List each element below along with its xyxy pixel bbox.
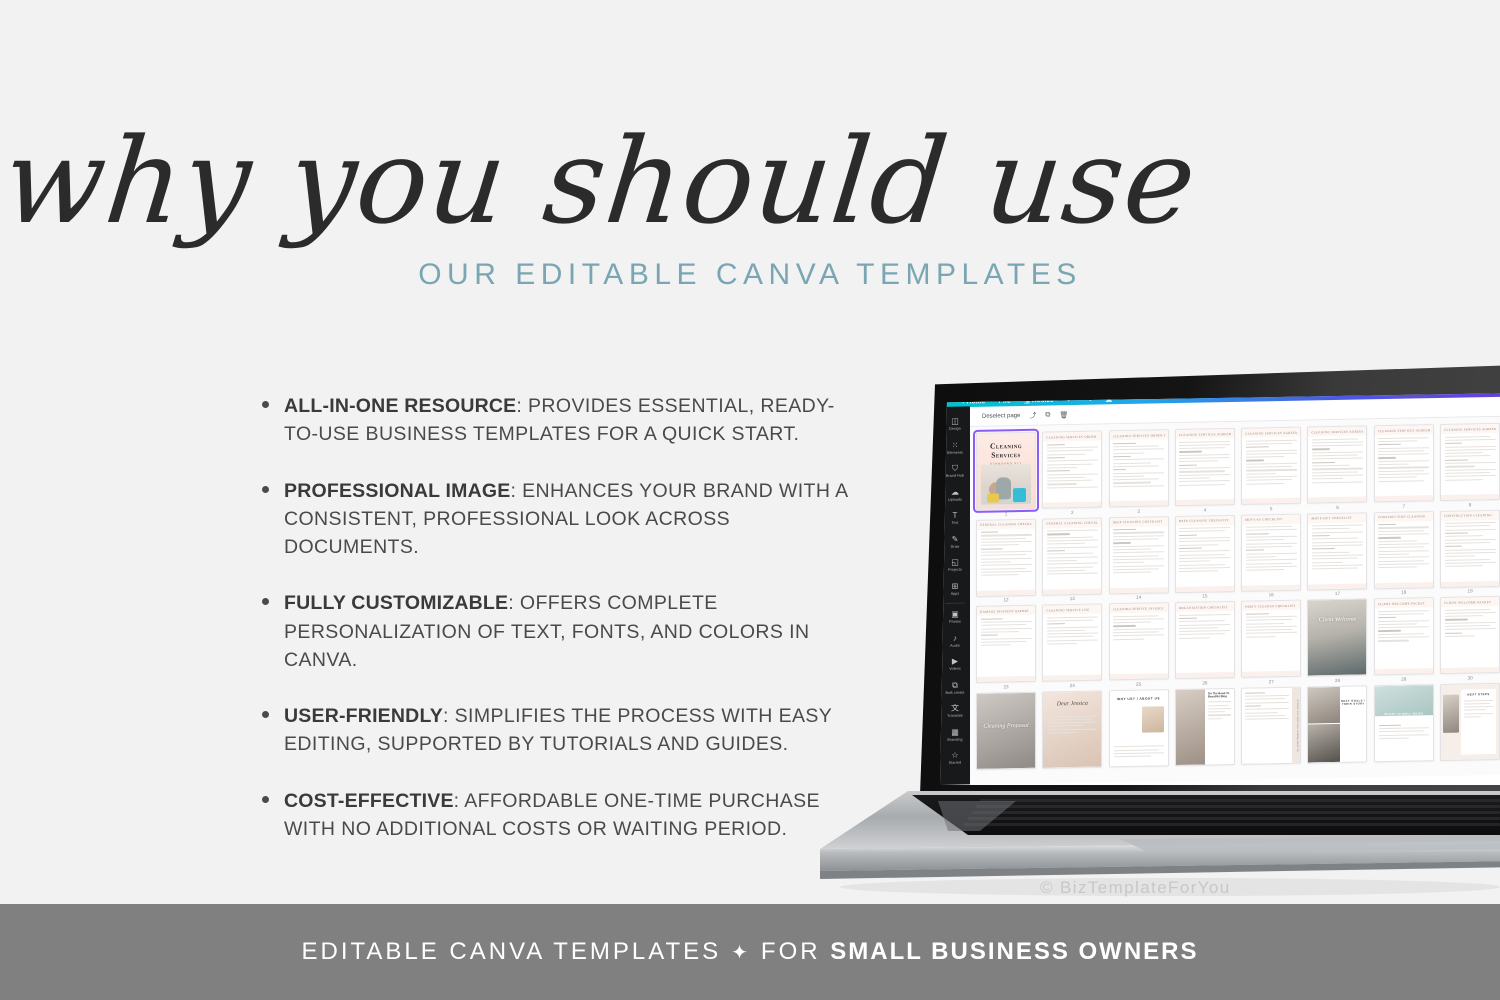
page-number: 14 [1136,595,1141,601]
blog-text: On The Road To Beautiful Blog [1205,688,1234,764]
page-cell[interactable]: Cleaning Services Agreement 4 [1175,428,1235,514]
page-thumbnail[interactable]: Construction Cleaning [1374,511,1434,589]
doc-body [1242,610,1300,643]
cover-title-line1: Cleaning [977,433,1035,452]
bullet-dot-icon [262,598,269,605]
photos-icon: ▣ [951,611,959,619]
doc-footer [1441,494,1499,500]
sidebar-item-photos[interactable]: ▣ Photos [940,605,970,629]
brand-hub-icon: ⛉ [952,465,958,473]
page-thumbnail-selected[interactable]: Cleaning Services Standard Kit [976,432,1036,510]
next-steps-card: Next Steps [1461,688,1496,754]
page-thumbnail[interactable]: Cleaning Services Agreement [1175,428,1235,506]
doc-body [1242,437,1300,489]
page-thumbnail[interactable]: Cleaning Services Agreement [1374,424,1434,502]
doc-footer [1375,495,1433,501]
doc-title: Party Cleanup Checklist [1245,603,1295,608]
doc-body [1441,606,1499,642]
proposal-title: Cleaning Proposal [977,722,1035,729]
page-cell[interactable]: Cleaning Services Agreement 8 [1440,423,1500,509]
page-thumbnail[interactable]: General Cleaning Checklist [1042,517,1102,595]
doc-footer [1043,588,1101,594]
bullet-dot-icon [262,401,269,408]
doc-body [1375,434,1433,486]
page-thumbnail[interactable]: Cleaning Services Order Form [1109,429,1169,507]
doc-body [977,615,1035,651]
doc-footer [1110,587,1168,593]
page-thumbnail-grid[interactable]: Cleaning Services Standard Kit 1 [970,416,1500,785]
list-item-term: COST-EFFECTIVE [284,790,454,812]
page-thumbnail[interactable]: Next Steps [1440,682,1500,760]
page-cell[interactable]: Cleaning Service Invoice 25 [1109,602,1169,688]
doc-footer [977,676,1035,682]
page-number: 13 [1070,596,1075,602]
page-number: 2 [1071,510,1074,516]
doc-body [1110,612,1168,645]
page-number: 30 [1468,675,1473,681]
cover-photo [981,464,1031,505]
page-cell[interactable]: Next Goals / Their Story [1307,685,1367,765]
starred-icon: ☆ [951,752,958,760]
doc-title: General Cleaning Checklist [1046,521,1098,526]
why-us-page: Why Us? / About Us [1110,690,1168,766]
translate-icon: 文 [951,705,959,713]
sidebar-item-apps[interactable]: ⊞ Apps [940,577,970,601]
next-steps-page: Next Steps [1441,683,1499,759]
footer-text: Editable Canva Templates✦For Small Busin… [301,938,1198,966]
text-icon: T [953,512,958,520]
page-number: 19 [1468,588,1473,594]
doc-body [1043,527,1101,579]
doc-body [1441,519,1499,571]
sidebar-item-label: Elements [947,450,963,454]
delete-icon[interactable]: 🗑 [1059,411,1068,419]
page-cell[interactable]: Why Us? / About Us [1109,689,1169,769]
page-number: 27 [1269,679,1274,685]
page-thumbnail[interactable]: Construction Cleaning [1440,509,1500,587]
bullet-dot-icon [262,796,269,803]
uploads-icon: ☁ [951,488,959,496]
vertical-tagline: A Place You Will Love Coming Back To [1296,699,1299,751]
doc-title: Cleaning Services Agreement [1311,429,1363,434]
doc-footer [1242,671,1300,677]
next-steps-photo [1443,694,1459,732]
diamond-icon: ✦ [731,942,751,964]
letter-page: Dear Jessica [1043,691,1101,767]
doc-body [1242,523,1300,575]
benefits-list: ALL-IN-ONE RESOURCE: PROVIDES ESSENTIAL,… [258,392,858,843]
page-cell[interactable]: Dear Jessica [1042,690,1102,770]
doc-title: Construction Cleaning [1444,513,1492,518]
sidebar-item-starred[interactable]: ☆ Starred [940,746,970,770]
next-goals-page: Next Goals / Their Story [1308,686,1366,762]
sidebar-item-label: Branding [947,737,962,741]
doc-footer [1043,501,1101,507]
page-subtitle: Our Editable Canva Templates [300,258,1200,292]
page-cell[interactable]: Organization Checklist 26 [1175,601,1235,687]
doc-title: Deep Cleaning Checklist [1179,518,1229,523]
page-thumbnail[interactable]: Cleaning Service Log [1042,603,1102,681]
list-item: COST-EFFECTIVE: AFFORDABLE ONE-TIME PURC… [258,787,858,844]
doc-title: Cleaning Service Invoice [1113,606,1164,611]
page-number: 8 [1469,502,1472,508]
doc-footer [1043,674,1101,680]
page-thumbnail[interactable]: Cleaning Services Agreement [1307,425,1367,503]
headline-block: why you should use Our Editable Canva Te… [0,120,1200,292]
page-number: 23 [1003,684,1008,690]
page-thumbnail[interactable]: Move-In Checklist [1241,513,1301,591]
next-goals-heading: Next Goals / Their Story [1341,699,1366,705]
doc-footer [1441,580,1499,586]
doc-title: Deep Cleaning Checklist [1113,519,1163,524]
doc-title: Cleaning Services Agreement [1179,431,1231,436]
bucket-shape [1013,488,1026,502]
sidebar-item-videos[interactable]: ▶ Videos [940,652,970,676]
doc-footer [1308,583,1366,589]
page-number: 7 [1403,503,1406,509]
wellbeing-page: Invest In Well-Being [1375,685,1433,761]
doc-title: Client Welcome Packet [1444,599,1491,604]
page-cell[interactable]: Cleaning Service Log 24 [1042,603,1102,689]
page-number: 28 [1335,677,1340,683]
doc-footer [1375,668,1433,674]
list-item: USER-FRIENDLY: SIMPLIFIES THE PROCESS WI… [258,702,858,759]
doc-footer [1242,584,1300,590]
doc-footer [1176,585,1234,591]
sidebar-item-label: Text [952,521,959,525]
page-cell[interactable]: Deep Cleaning Checklist 15 [1175,514,1235,600]
sidebar-item-label: Draw [951,544,960,548]
page-cell[interactable]: Client Welcome 28 [1307,598,1367,684]
page-cell[interactable]: General Cleaning Checklist 12 [976,518,1036,604]
page-thumbnail[interactable]: Party Cleanup Checklist [1241,600,1301,678]
doc-title: Cleaning Services Order Form [1046,434,1098,439]
page-thumbnail[interactable]: Next Goals / Their Story [1307,685,1367,763]
sidebar-item-label: Audio [950,643,960,647]
sidebar-item-label: Starred [949,761,962,765]
cover-title-line2: Services [977,450,1035,460]
page-number: 5 [1270,506,1273,512]
page-cell[interactable]: Damage Incident Report 23 [976,605,1036,691]
page-cell[interactable]: Construction Cleaning 19 [1440,509,1500,595]
person-photo [1308,724,1340,762]
doc-footer [1308,496,1366,502]
letter-body [1048,715,1096,736]
footer-lead: Editable Canva Templates [301,938,721,965]
sidebar-item-label: Photos [949,620,961,624]
page-number: 24 [1070,682,1075,688]
page-number: 17 [1335,591,1340,597]
doc-footer [1441,667,1499,673]
wellbeing-heading: Invest In Well-Being [1375,712,1433,716]
doc-title: General Cleaning Checklist [980,522,1032,527]
duplicate-icon[interactable]: ⧉ [1045,411,1050,419]
doc-title: Client Welcome Packet [1378,601,1425,606]
page-cell[interactable]: Cleaning Services Standard Kit 1 [976,432,1036,518]
doc-footer [1110,673,1168,679]
sidebar-item-label: Uploads [948,497,962,501]
sidebar-item-label: Apps [951,591,960,595]
grid-row: General Cleaning Checklist 12 [976,509,1500,604]
sidebar-item-branding[interactable]: ▦ Branding [940,723,970,747]
list-item: FULLY CUSTOMIZABLE: OFFERS COMPLETE PERS… [258,589,858,674]
wellbeing-body [1379,724,1429,742]
doc-body [1176,524,1234,576]
sidebar-item-bulk-create[interactable]: ⧉ Bulk create [940,676,970,700]
poster-canvas: why you should use Our Editable Canva Te… [0,0,1500,1000]
bullet-dot-icon [262,711,269,718]
share-icon[interactable]: ⤴ [1029,410,1036,420]
page-thumbnail[interactable]: Cleaning Services Agreement [1440,423,1500,501]
page-thumbnail-welcome[interactable]: Client Welcome [1307,598,1367,676]
page-cell[interactable]: Construction Cleaning 18 [1374,511,1434,597]
page-thumbnail[interactable]: A Place You Will Love Coming Back To [1241,686,1301,764]
doc-footer [1242,498,1300,504]
doc-body [1043,440,1101,493]
doc-body [1176,611,1234,644]
page-number: 29 [1401,676,1406,682]
page-cell[interactable]: Cleaning Services Order Form 2 [1042,430,1102,516]
design-icon: ◫ [951,418,959,426]
doc-title: Damage Incident Report [980,608,1029,613]
doc-body [1375,521,1433,573]
grid-row: Cleaning Proposal Dear Jessica [976,682,1500,771]
watermark: © BizTemplateForYou [1040,878,1231,898]
sidebar-item-label: Projects [948,568,962,572]
doc-body [1043,613,1101,649]
page-number: 4 [1204,507,1207,513]
page-cell[interactable]: Cleaning Services Agreement 5 [1241,427,1301,513]
sidebar-item-label: Bulk create [945,690,964,694]
videos-icon: ▶ [952,658,958,666]
page-cell[interactable]: Client Welcome Packet 29 [1374,597,1434,683]
doc-title: Cleaning Services Agreement [1444,426,1496,431]
grid-row: Damage Incident Report 23 [976,596,1500,691]
draw-icon: ✎ [952,535,959,543]
page-thumbnail[interactable]: Move-Out Checklist [1307,512,1367,590]
page-thumbnail[interactable]: Cleaning Services Order Form [1042,430,1102,508]
footer-mid: For [761,938,821,965]
blog-photo [1176,689,1205,765]
page-cell[interactable]: Next Steps [1440,682,1500,762]
page-thumbnail[interactable]: Client Welcome Packet [1374,597,1434,675]
sidebar-item-label: Design [949,427,961,431]
doc-title: Organization Checklist [1179,605,1228,610]
page-thumbnail[interactable]: Why Us? / About Us [1109,689,1169,767]
list-item: PROFESSIONAL IMAGE: ENHANCES YOUR BRAND … [258,477,858,562]
page-thumbnail[interactable]: Deep Cleaning Checklist [1109,516,1169,594]
doc-footer [1375,582,1433,588]
welcome-script-label: Client Welcome [1308,616,1366,623]
doc-title: Cleaning Service Log [1046,607,1089,612]
audio-icon: ♪ [953,634,957,642]
doc-body [1110,439,1168,492]
blog-page: On The Road To Beautiful Blog [1176,688,1234,764]
laptop-mockup: ‹ Home File ⇲ Resize ↶ ↷ ☁ [820,365,1500,870]
page-number: 6 [1336,504,1339,510]
page-cell[interactable]: Move-Out Checklist 17 [1307,512,1367,598]
doc-title: Move-In Checklist [1245,517,1282,522]
apps-icon: ⊞ [952,582,959,590]
doc-title: Cleaning Services Agreement [1245,430,1297,435]
proposal-photo: Cleaning Proposal [977,692,1035,768]
page-cell[interactable]: Invest In Well-Being [1374,684,1434,764]
deselect-page-button[interactable]: Deselect page [982,413,1020,420]
elements-icon: ⁙ [952,441,959,449]
footer-strong: Small Business Owners [830,938,1198,965]
doc-footer [1176,499,1234,505]
page-cell[interactable]: Cleaning Services Agreement 7 [1374,424,1434,510]
page-number: 25 [1136,681,1141,687]
doc-title: Move-Out Checklist [1311,516,1352,521]
page-cell[interactable]: Client Welcome Packet 30 [1440,596,1500,682]
doc-body [1441,433,1499,485]
doc-body [1308,522,1366,574]
why-us-photo [1142,706,1164,732]
sidebar-item-projects[interactable]: ◱ Projects [940,553,970,577]
grid-row: Cleaning Services Standard Kit 1 [976,423,1500,518]
page-cell[interactable]: Move-In Checklist 16 [1241,513,1301,599]
page-number: 18 [1401,590,1406,596]
list-item-term: FULLY CUSTOMIZABLE [284,592,508,614]
kitchen-photo [1308,686,1340,723]
blog-heading: On The Road To Beautiful Blog [1208,691,1231,698]
sidebar-item-audio[interactable]: ♪ Audio [940,629,970,653]
page-cell[interactable]: On The Road To Beautiful Blog [1175,687,1235,767]
sidebar-item-label: Translate [947,714,963,718]
projects-icon: ◱ [951,559,959,567]
page-thumbnail[interactable]: Client Welcome Packet [1440,596,1500,674]
sidebar-item-label: Brand Hub [946,474,964,478]
page-cell[interactable]: A Place You Will Love Coming Back To [1241,686,1301,766]
branding-icon: ▦ [951,728,959,736]
sidebar-divider [945,603,965,604]
page-thumbnail[interactable]: Invest In Well-Being [1374,684,1434,762]
page-number: 16 [1269,592,1274,598]
welcome-photo: Client Welcome [1308,599,1366,675]
page-cell[interactable]: Cleaning Proposal [976,691,1036,771]
cover-page: Cleaning Services Standard Kit [977,433,1035,509]
doc-footer [1176,672,1234,678]
doc-body [977,528,1035,580]
list-item-term: ALL-IN-ONE RESOURCE [284,395,516,417]
page-cell[interactable]: Cleaning Services Order Form 3 [1109,429,1169,515]
list-item: ALL-IN-ONE RESOURCE: PROVIDES ESSENTIAL,… [258,392,858,449]
doc-body [1375,607,1433,646]
page-thumbnail[interactable]: Deep Cleaning Checklist [1175,514,1235,592]
coming-back-page: A Place You Will Love Coming Back To [1242,687,1300,763]
page-title: why you should use [0,120,1207,244]
page-thumbnail[interactable]: On The Road To Beautiful Blog [1175,687,1235,765]
why-us-heading: Why Us? / About Us [1110,696,1168,701]
doc-title: Cleaning Services Agreement [1378,428,1430,433]
list-item-term: PROFESSIONAL IMAGE [284,480,510,502]
page-thumbnail[interactable]: Dear Jessica [1042,690,1102,768]
doc-body [1176,438,1234,490]
sidebar-item-label: Videos [949,667,961,671]
bulk-create-icon: ⧉ [952,681,958,689]
page-cell[interactable]: Cleaning Services Agreement 6 [1307,425,1367,511]
laptop-screen: ‹ Home File ⇲ Resize ↶ ↷ ☁ [940,393,1500,785]
page-cell[interactable]: Deep Cleaning Checklist 14 [1109,516,1169,602]
sidebar-item-translate[interactable]: 文 Translate [940,699,970,723]
list-item-term: USER-FRIENDLY [284,705,443,727]
page-thumbnail-proposal[interactable]: Cleaning Proposal [976,691,1036,769]
page-thumbnail[interactable]: Organization Checklist [1175,601,1235,679]
coming-back-body [1245,691,1289,722]
bullet-dot-icon [262,486,269,493]
page-cell[interactable]: Party Cleanup Checklist 27 [1241,600,1301,686]
doc-title: Cleaning Services Order Form [1113,433,1165,438]
page-number: 1 [1005,511,1008,517]
page-cell[interactable]: General Cleaning Checklist 13 [1042,517,1102,603]
doc-body [1110,526,1168,578]
page-number: 26 [1202,680,1207,686]
doc-footer [1110,500,1168,506]
supplies-shape [987,494,999,503]
footer-bar: Editable Canva Templates✦For Small Busin… [0,904,1500,1000]
next-steps-heading: Next Steps [1464,691,1493,696]
page-thumbnail[interactable]: Cleaning Services Agreement [1241,427,1301,505]
page-number: 12 [1003,597,1008,603]
doc-body [1308,435,1366,487]
page-thumbnail[interactable]: Damage Incident Report [976,605,1036,683]
doc-footer [977,589,1035,595]
about-us-body [1114,746,1164,760]
doc-title: Construction Cleaning [1378,514,1426,519]
letter-greeting: Dear Jessica [1043,700,1101,707]
page-thumbnail[interactable]: Cleaning Service Invoice [1109,602,1169,680]
page-number: 15 [1202,593,1207,599]
page-number: 3 [1137,508,1140,514]
page-thumbnail[interactable]: General Cleaning Checklist [976,518,1036,596]
